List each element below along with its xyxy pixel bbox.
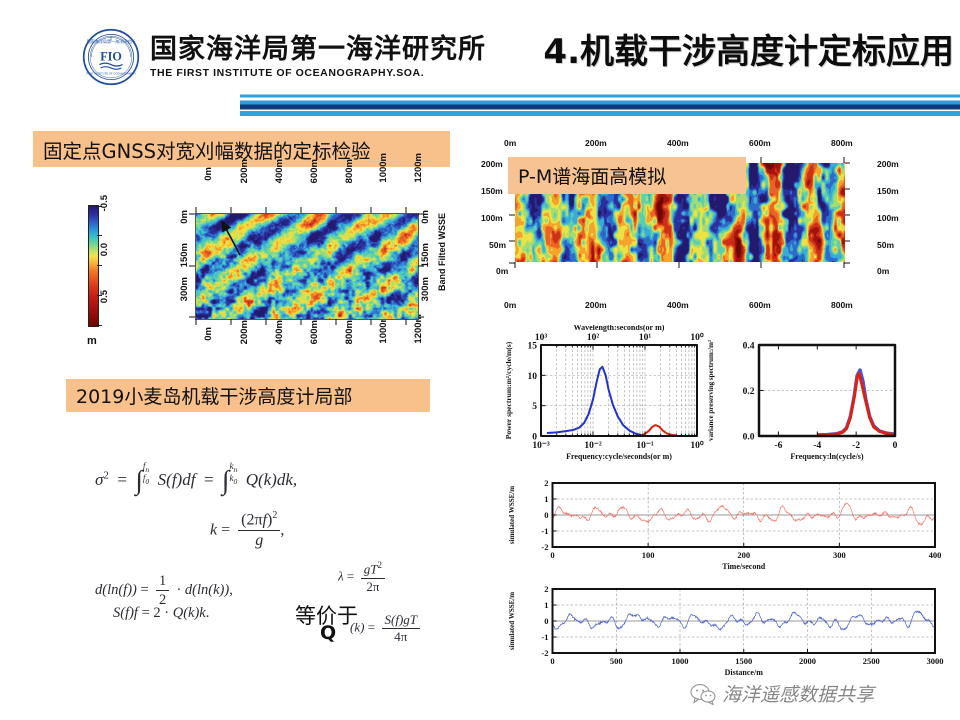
formula-q-symbol: Q xyxy=(320,622,336,644)
watermark: 海洋遥感数据共享 xyxy=(690,680,874,707)
figure-airborne-swath: -0.5 0.0 0.5 m 0m 200m 400m 600m 800m 10… xyxy=(75,165,465,380)
wsse-time-canvas xyxy=(500,472,950,577)
fio-seal-icon: 国家海洋局第一海洋研究所 FIRST INSTITUTE OF OCEANOGR… xyxy=(82,28,140,86)
institute-logo: 国家海洋局第一海洋研究所 FIRST INSTITUTE OF OCEANOGR… xyxy=(82,28,486,86)
header-decor-band xyxy=(0,92,960,118)
slide-header: 国家海洋局第一海洋研究所 FIRST INSTITUTE OF OCEANOGR… xyxy=(0,0,960,118)
chart-variance-preserving xyxy=(700,325,950,470)
svg-text:FIRST INSTITUTE OF OCEANOGRAPH: FIRST INSTITUTE OF OCEANOGRAPHY xyxy=(86,71,136,75)
swath-axis-ticks xyxy=(75,165,465,380)
institute-name-cn: 国家海洋局第一海洋研究所 xyxy=(150,35,486,64)
formula-block: σ2 = ∫fnf0 S(f)df = ∫knk0 Q(k)dk, k = (2… xyxy=(95,462,495,662)
svg-text:FIO: FIO xyxy=(100,49,122,63)
formula-qk-final: (k) = S(f)gT4π xyxy=(350,612,420,646)
power-spectrum-canvas xyxy=(497,325,712,470)
watermark-text: 海洋遥感数据共享 xyxy=(722,680,874,707)
callout-2019-airborne: 2019小麦岛机载干涉高度计局部 xyxy=(66,379,430,412)
formula-lambda: λ = gT22π xyxy=(338,560,385,595)
formula-dln: d(ln(f)) = 12 · d(ln(k)), xyxy=(95,572,233,609)
band-stripes-icon xyxy=(0,92,960,118)
page-title: 4.机载干涉高度计定标应用 xyxy=(543,24,954,73)
callout-pm-spectrum: P-M谱海面高模拟 xyxy=(508,157,746,194)
institute-name-block: 国家海洋局第一海洋研究所 THE FIRST INSTITUTE OF OCEA… xyxy=(150,35,486,79)
formula-sf-qk: S(f)f = 2 · Q(k)k. xyxy=(113,605,209,622)
chart-wsse-distance xyxy=(500,578,950,683)
wechat-icon xyxy=(690,683,716,705)
wsse-distance-canvas xyxy=(500,578,950,683)
formula-sigma-squared: σ2 = ∫fnf0 S(f)df = ∫knk0 Q(k)dk, xyxy=(95,468,297,493)
slide-root: 国家海洋局第一海洋研究所 FIRST INSTITUTE OF OCEANOGR… xyxy=(0,0,960,720)
institute-name-en: THE FIRST INSTITUTE OF OCEANOGRAPHY.SOA. xyxy=(150,67,486,79)
formula-wavenumber: k = (2πf)2g, xyxy=(210,510,284,551)
chart-power-spectrum xyxy=(497,325,712,470)
chart-wsse-time xyxy=(500,472,950,577)
variance-preserving-canvas xyxy=(700,325,950,470)
